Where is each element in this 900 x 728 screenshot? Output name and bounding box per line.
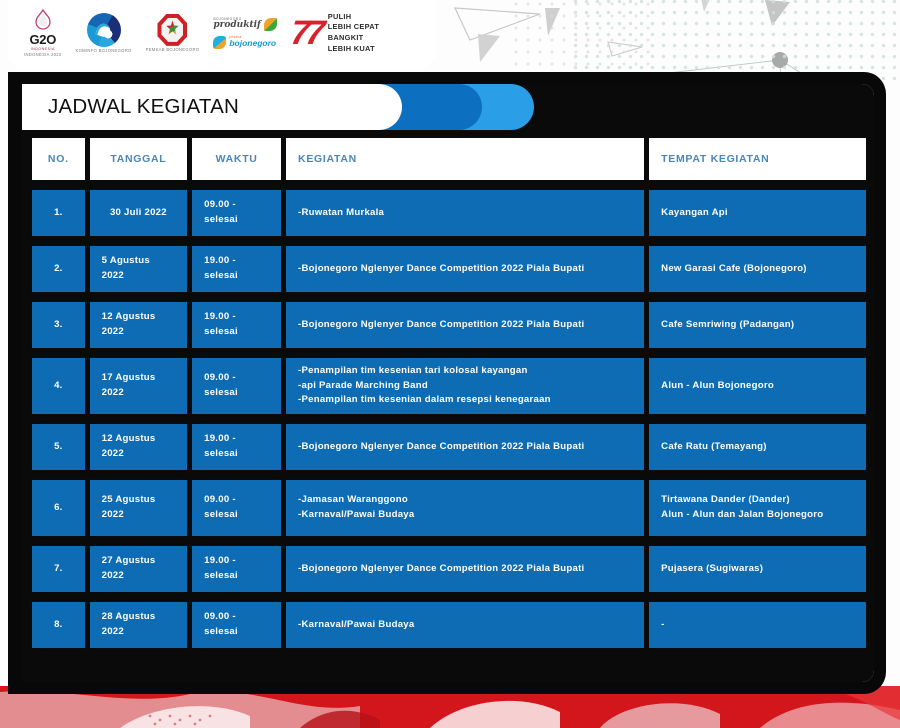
cell-tempat: Tirtawana Dander (Dander)Alun - Alun dan…	[649, 480, 866, 536]
bojonegoro-produktif-logo: BOJONEGORO produktif pesona bojonegoro	[213, 18, 277, 49]
table-row: 1.30 Juli 202209.00 - selesai-Ruwatan Mu…	[22, 180, 874, 236]
cell-kegiatan: -Bojonegoro Nglenyer Dance Competition 2…	[286, 302, 644, 348]
kominfo-caption: KOMINFO BOJONEGORO	[75, 48, 131, 53]
logo-strip: G2O INDONESIA INDONESIA 2022 KOMINFO BOJ…	[8, 0, 436, 68]
cell-kegiatan-lines: -Bojonegoro Nglenyer Dance Competition 2…	[298, 562, 584, 577]
cell-kegiatan: -Bojonegoro Nglenyer Dance Competition 2…	[286, 246, 644, 292]
slogan-line-3: BANGKIT	[328, 33, 379, 44]
cell-tempat: Kayangan Api	[649, 190, 866, 236]
schedule-frame: JADWAL KEGIATAN NO. TANGGAL WAKTU KEGIAT…	[8, 72, 886, 694]
slogan-line-2: LEBIH CEPAT	[328, 22, 379, 33]
cell-tempat: New Garasi Cafe (Bojonegoro)	[649, 246, 866, 292]
g20-logo: G2O INDONESIA INDONESIA 2022	[24, 9, 61, 57]
pemkab-caption: PEMKAB BOJONEGORO	[146, 47, 200, 52]
cell-tempat-line: Pujasera (Sugiwaras)	[661, 562, 763, 577]
table-row: 6.25 Agustus 202209.00 - selesai-Jamasan…	[22, 470, 874, 536]
slogan-line-4: LEBIH KUAT	[328, 44, 379, 55]
cell-tanggal: 12 Agustus 2022	[90, 424, 188, 470]
cell-kegiatan-line: -Penampilan tim kesenian tari kolosal ka…	[298, 364, 551, 379]
cell-tempat-lines: Cafe Ratu (Temayang)	[661, 440, 767, 455]
cell-waktu: 19.00 - selesai	[192, 546, 281, 592]
cell-kegiatan-line: -Bojonegoro Nglenyer Dance Competition 2…	[298, 440, 584, 455]
cell-kegiatan-line: -Bojonegoro Nglenyer Dance Competition 2…	[298, 318, 584, 333]
cell-tempat-lines: Tirtawana Dander (Dander)Alun - Alun dan…	[661, 493, 823, 523]
numeral-77: 77	[289, 19, 322, 48]
cell-tempat-lines: Cafe Semriwing (Padangan)	[661, 318, 794, 333]
pemkab-crest-icon	[157, 14, 187, 46]
title-pill: JADWAL KEGIATAN	[22, 84, 402, 130]
cell-waktu: 09.00 - selesai	[192, 358, 281, 414]
cell-kegiatan-lines: -Penampilan tim kesenian tari kolosal ka…	[298, 364, 551, 409]
slogan-line-1: PULIH	[328, 12, 379, 23]
cell-kegiatan: -Penampilan tim kesenian tari kolosal ka…	[286, 358, 644, 414]
table-body: 1.30 Juli 202209.00 - selesai-Ruwatan Mu…	[22, 180, 874, 648]
page-title: JADWAL KEGIATAN	[48, 95, 239, 119]
cell-tanggal: 28 Agustus 2022	[90, 602, 188, 648]
cell-waktu: 09.00 - selesai	[192, 480, 281, 536]
cell-tanggal: 30 Juli 2022	[90, 190, 188, 236]
cell-kegiatan-line: -Karnaval/Pawai Budaya	[298, 508, 414, 523]
hut-ri-77-logo: 77 PULIH LEBIH CEPAT BANGKIT LEBIH KUAT	[291, 12, 379, 54]
cell-kegiatan: -Bojonegoro Nglenyer Dance Competition 2…	[286, 546, 644, 592]
cell-kegiatan-lines: -Bojonegoro Nglenyer Dance Competition 2…	[298, 262, 584, 277]
g20-sublabel: INDONESIA	[31, 47, 55, 51]
table-row: 8.28 Agustus 202209.00 - selesai-Karnava…	[22, 592, 874, 648]
cell-kegiatan-line: -Jamasan Waranggono	[298, 493, 414, 508]
bojonegoro-wordmark: bojonegoro	[229, 39, 276, 48]
cell-kegiatan-lines: -Bojonegoro Nglenyer Dance Competition 2…	[298, 440, 584, 455]
cell-tempat-line: -	[661, 618, 664, 633]
cell-tanggal: 5 Agustus 2022	[90, 246, 188, 292]
column-header-kegiatan: KEGIATAN	[286, 138, 644, 180]
cell-tempat-line: Cafe Ratu (Temayang)	[661, 440, 767, 455]
cell-no: 1.	[32, 190, 85, 236]
table-row: 2.5 Agustus 202219.00 - selesai-Bojonego…	[22, 236, 874, 292]
cell-tempat-lines: Pujasera (Sugiwaras)	[661, 562, 763, 577]
table-row: 7.27 Agustus 202219.00 - selesai-Bojoneg…	[22, 536, 874, 592]
cell-tempat: Pujasera (Sugiwaras)	[649, 546, 866, 592]
cell-no: 3.	[32, 302, 85, 348]
cell-kegiatan-line: -Karnaval/Pawai Budaya	[298, 618, 414, 633]
leaf-icon	[264, 18, 277, 31]
cell-no: 8.	[32, 602, 85, 648]
cell-tempat: -	[649, 602, 866, 648]
cell-tanggal: 25 Agustus 2022	[90, 480, 188, 536]
swirl-icon	[213, 36, 226, 49]
cell-waktu: 19.00 - selesai	[192, 424, 281, 470]
cell-kegiatan-line: -api Parade Marching Band	[298, 379, 551, 394]
cell-tempat-line: Kayangan Api	[661, 206, 728, 221]
g20-wordmark: G2O	[29, 33, 56, 46]
kominfo-globe-icon	[87, 13, 121, 47]
cell-kegiatan-lines: -Bojonegoro Nglenyer Dance Competition 2…	[298, 318, 584, 333]
schedule-panel: JADWAL KEGIATAN NO. TANGGAL WAKTU KEGIAT…	[22, 84, 874, 682]
cell-kegiatan-lines: -Karnaval/Pawai Budaya	[298, 618, 414, 633]
cell-tempat-lines: Alun - Alun Bojonegoro	[661, 379, 774, 394]
cell-tempat-line: New Garasi Cafe (Bojonegoro)	[661, 262, 807, 277]
cell-tanggal: 12 Agustus 2022	[90, 302, 188, 348]
cell-waktu: 09.00 - selesai	[192, 602, 281, 648]
cell-tempat-line: Cafe Semriwing (Padangan)	[661, 318, 794, 333]
column-header-tanggal: TANGGAL	[90, 138, 188, 180]
cell-tempat-line: Alun - Alun Bojonegoro	[661, 379, 774, 394]
cell-waktu: 19.00 - selesai	[192, 246, 281, 292]
cell-waktu: 19.00 - selesai	[192, 302, 281, 348]
cell-no: 5.	[32, 424, 85, 470]
dot-pattern-center	[510, 0, 650, 78]
cell-tempat-lines: New Garasi Cafe (Bojonegoro)	[661, 262, 807, 277]
cell-no: 6.	[32, 480, 85, 536]
table-header-row: NO. TANGGAL WAKTU KEGIATAN TEMPAT KEGIAT…	[22, 130, 874, 180]
cell-kegiatan-lines: -Jamasan Waranggono-Karnaval/Pawai Buday…	[298, 493, 414, 523]
g20-caption: INDONESIA 2022	[24, 52, 61, 57]
cell-kegiatan: -Ruwatan Murkala	[286, 190, 644, 236]
hut-ri-slogan: PULIH LEBIH CEPAT BANGKIT LEBIH KUAT	[328, 12, 379, 54]
cell-tempat-line: Alun - Alun dan Jalan Bojonegoro	[661, 508, 823, 523]
table-row: 5.12 Agustus 202219.00 - selesai-Bojoneg…	[22, 414, 874, 470]
table-row: 4.17 Agustus 202209.00 - selesai-Penampi…	[22, 348, 874, 414]
cell-kegiatan-line: -Bojonegoro Nglenyer Dance Competition 2…	[298, 562, 584, 577]
dot-pattern-right	[570, 0, 900, 82]
cell-kegiatan-line: -Ruwatan Murkala	[298, 206, 384, 221]
cell-no: 4.	[32, 358, 85, 414]
kominfo-logo: KOMINFO BOJONEGORO	[75, 13, 131, 53]
cell-kegiatan: -Karnaval/Pawai Budaya	[286, 602, 644, 648]
column-header-tempat: TEMPAT KEGIATAN	[649, 138, 866, 180]
cell-kegiatan-line: -Bojonegoro Nglenyer Dance Competition 2…	[298, 262, 584, 277]
cell-tempat: Cafe Semriwing (Padangan)	[649, 302, 866, 348]
poster-canvas: G2O INDONESIA INDONESIA 2022 KOMINFO BOJ…	[0, 0, 900, 728]
column-header-waktu: WAKTU	[192, 138, 281, 180]
produktif-wordmark: produktif	[213, 21, 261, 30]
title-bar: JADWAL KEGIATAN	[22, 84, 874, 130]
cell-tempat: Cafe Ratu (Temayang)	[649, 424, 866, 470]
cell-waktu: 09.00 - selesai	[192, 190, 281, 236]
cell-kegiatan: -Bojonegoro Nglenyer Dance Competition 2…	[286, 424, 644, 470]
cell-tanggal: 17 Agustus 2022	[90, 358, 188, 414]
cell-kegiatan: -Jamasan Waranggono-Karnaval/Pawai Buday…	[286, 480, 644, 536]
column-header-no: NO.	[32, 138, 85, 180]
cell-kegiatan-line: -Penampilan tim kesenian dalam resepsi k…	[298, 393, 551, 408]
cell-tempat-lines: Kayangan Api	[661, 206, 728, 221]
cell-tempat-lines: -	[661, 618, 664, 633]
cell-tempat-line: Tirtawana Dander (Dander)	[661, 493, 823, 508]
cell-no: 2.	[32, 246, 85, 292]
g20-flame-icon	[32, 9, 54, 33]
table-row: 3.12 Agustus 202219.00 - selesai-Bojoneg…	[22, 292, 874, 348]
pemkab-bojonegoro-logo: PEMKAB BOJONEGORO	[146, 14, 200, 52]
cell-tanggal: 27 Agustus 2022	[90, 546, 188, 592]
cell-tempat: Alun - Alun Bojonegoro	[649, 358, 866, 414]
schedule-table: NO. TANGGAL WAKTU KEGIATAN TEMPAT KEGIAT…	[22, 130, 874, 682]
cell-no: 7.	[32, 546, 85, 592]
cell-kegiatan-lines: -Ruwatan Murkala	[298, 206, 384, 221]
